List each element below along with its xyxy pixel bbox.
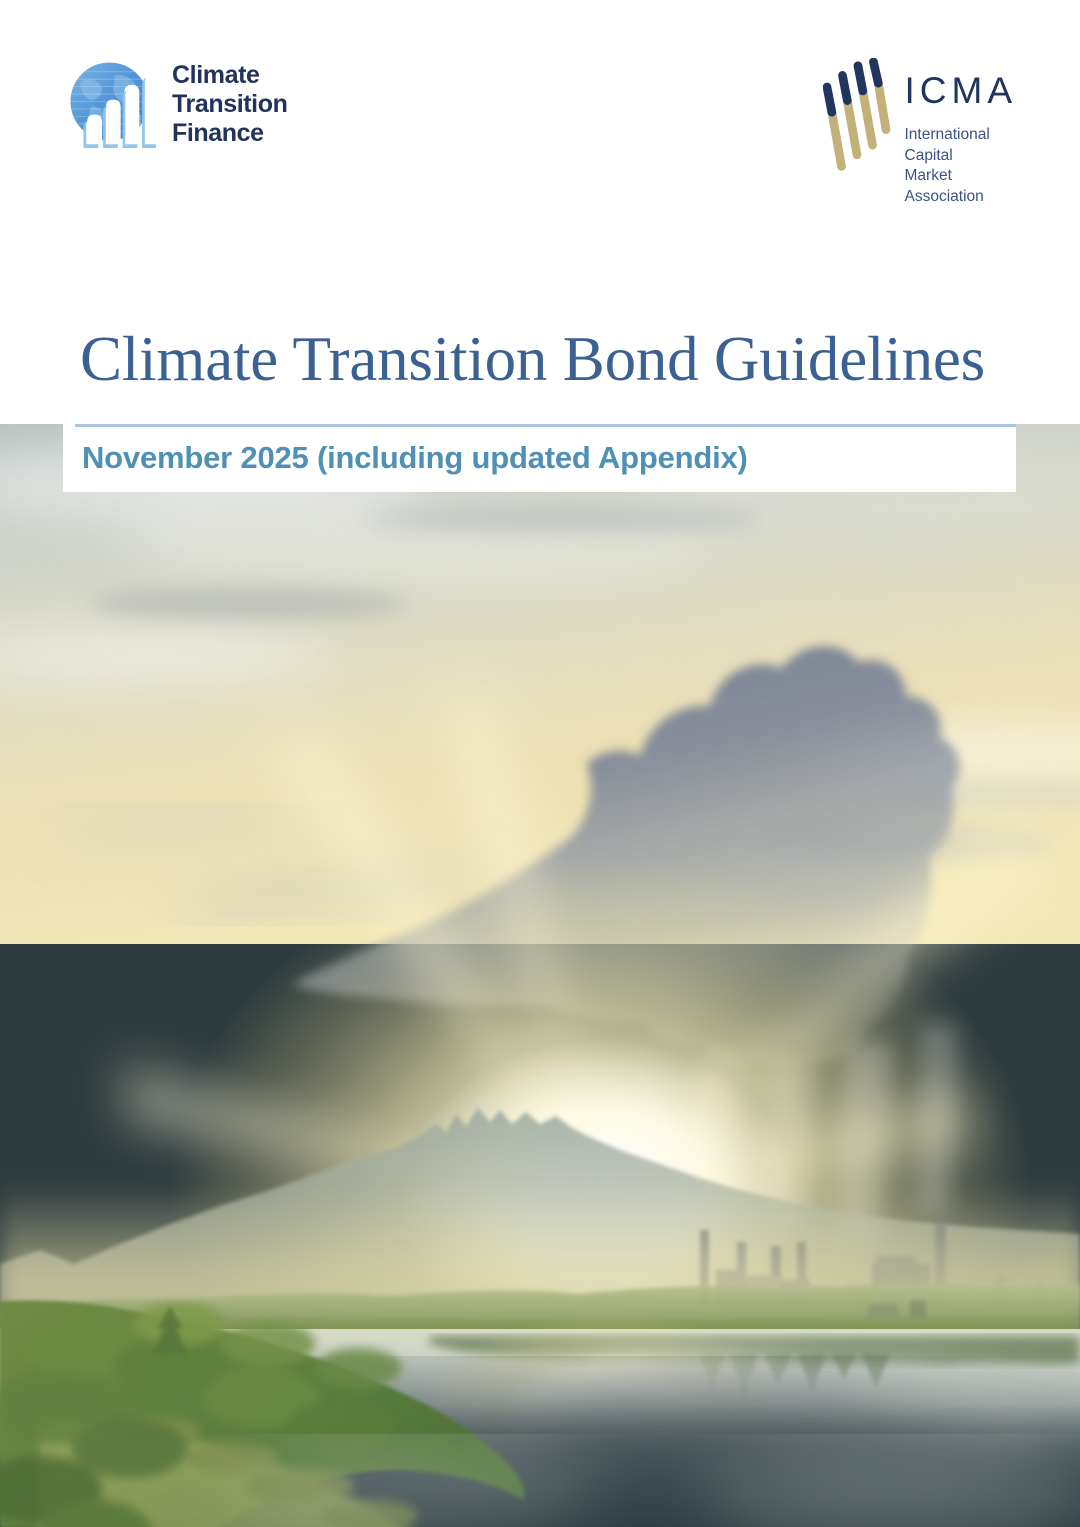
icma-name: ICMA <box>905 72 1018 109</box>
icma-sub-line-1: International <box>905 125 1018 146</box>
icma-text-block: ICMA International Capital Market Associ… <box>905 58 1018 207</box>
cover-photo <box>0 424 1080 1527</box>
ctf-line-3: Finance <box>172 119 287 148</box>
icma-bars-icon <box>823 58 891 178</box>
climate-transition-finance-logo: Climate Transition Finance <box>63 55 287 148</box>
icma-sub-line-4: Association <box>905 187 1018 208</box>
icma-sub-line-2: Capital <box>905 146 1018 167</box>
subtitle-band: November 2025 (including updated Appendi… <box>63 424 1016 492</box>
icma-logo: ICMA International Capital Market Associ… <box>823 58 1018 207</box>
icma-subtitle: International Capital Market Association <box>905 125 1018 207</box>
page-title: Climate Transition Bond Guidelines <box>80 326 1040 393</box>
ctf-line-1: Climate <box>172 61 287 90</box>
icma-sub-line-3: Market <box>905 166 1018 187</box>
title-divider <box>75 424 1016 427</box>
document-subtitle: November 2025 (including updated Appendi… <box>63 440 748 476</box>
cover-header: Climate Transition Finance <box>0 0 1080 424</box>
ctf-wordmark: Climate Transition Finance <box>172 55 287 148</box>
globe-bars-icon <box>63 55 156 148</box>
ctf-line-2: Transition <box>172 90 287 119</box>
cover-page: Climate Transition Finance <box>0 0 1080 1527</box>
